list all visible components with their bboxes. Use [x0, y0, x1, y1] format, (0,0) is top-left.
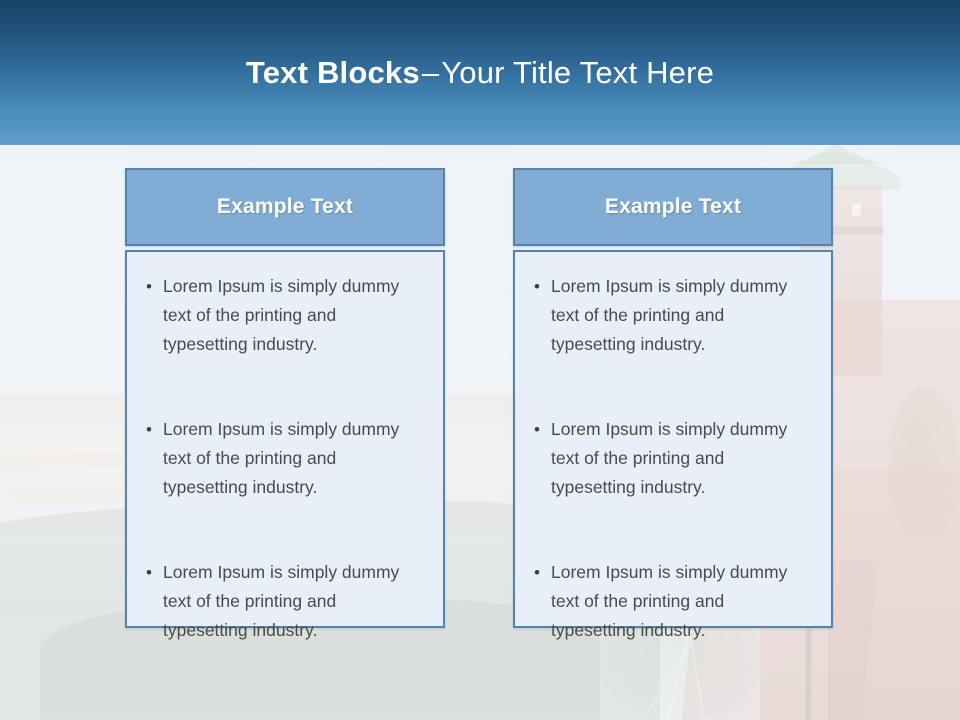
- page-title-strong: Text Blocks: [246, 55, 420, 91]
- bullet-list-left: • Lorem Ipsum is simply dummy text of th…: [135, 272, 429, 645]
- page-title-dash: –: [420, 55, 441, 91]
- list-item-text: Lorem Ipsum is simply dummy text of the …: [163, 558, 421, 645]
- list-item-text: Lorem Ipsum is simply dummy text of the …: [551, 272, 809, 359]
- page-title-rest: Your Title Text Here: [441, 55, 714, 91]
- bullet-dot-icon: •: [523, 558, 551, 587]
- page-title: Text Blocks – Your Title Text Here: [0, 0, 960, 145]
- bullet-dot-icon: •: [523, 272, 551, 301]
- text-block-right-header-label: Example Text: [605, 195, 741, 219]
- bullet-dot-icon: •: [523, 415, 551, 444]
- text-block-right-header: Example Text: [513, 168, 833, 246]
- list-item-text: Lorem Ipsum is simply dummy text of the …: [163, 272, 421, 359]
- text-block-left: Example Text • Lorem Ipsum is simply dum…: [125, 168, 445, 628]
- text-block-left-header: Example Text: [125, 168, 445, 246]
- list-item-text: Lorem Ipsum is simply dummy text of the …: [551, 558, 809, 645]
- list-item: • Lorem Ipsum is simply dummy text of th…: [135, 272, 429, 359]
- bullet-list-right: • Lorem Ipsum is simply dummy text of th…: [523, 272, 817, 645]
- castle-tower-window: [852, 203, 861, 216]
- text-block-right: Example Text • Lorem Ipsum is simply dum…: [513, 168, 833, 628]
- list-item-text: Lorem Ipsum is simply dummy text of the …: [551, 415, 809, 502]
- presentation-slide: Text Blocks – Your Title Text Here Examp…: [0, 0, 960, 720]
- list-item: • Lorem Ipsum is simply dummy text of th…: [523, 272, 817, 359]
- bullet-dot-icon: •: [135, 558, 163, 587]
- text-block-left-body: • Lorem Ipsum is simply dummy text of th…: [125, 250, 445, 628]
- bullet-dot-icon: •: [135, 272, 163, 301]
- bullet-dot-icon: •: [135, 415, 163, 444]
- list-item: • Lorem Ipsum is simply dummy text of th…: [523, 415, 817, 502]
- list-item: • Lorem Ipsum is simply dummy text of th…: [135, 558, 429, 645]
- text-block-right-body: • Lorem Ipsum is simply dummy text of th…: [513, 250, 833, 628]
- list-item: • Lorem Ipsum is simply dummy text of th…: [135, 415, 429, 502]
- list-item: • Lorem Ipsum is simply dummy text of th…: [523, 558, 817, 645]
- list-item-text: Lorem Ipsum is simply dummy text of the …: [163, 415, 421, 502]
- text-block-left-header-label: Example Text: [217, 195, 353, 219]
